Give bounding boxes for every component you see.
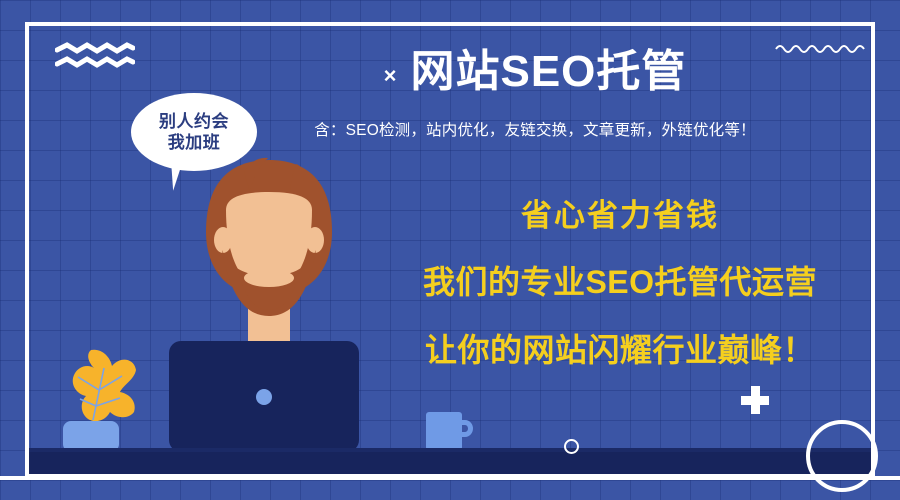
bearded-man-icon <box>206 158 332 316</box>
desk-front <box>27 452 873 476</box>
slogan-line-1: 省心省力省钱 <box>370 190 870 235</box>
page-subtitle: 含：SEO检测，站内优化，友链交换，文章更新，外链优化等！ <box>300 118 770 140</box>
slogan-line-3: 让你的网站闪耀行业巅峰！ <box>370 325 870 371</box>
speech-bubble: 别人约会 我加班 <box>131 93 257 171</box>
close-x-icon: × <box>384 65 397 87</box>
laptop-logo-icon <box>256 389 272 405</box>
wave-lines-icon <box>55 42 135 70</box>
seo-hosting-banner: 别人约会 我加班 × 网站SEO托管 含：SEO检测，站内优化，友链交换，文章更… <box>0 0 900 500</box>
squiggle-line-icon <box>775 40 867 56</box>
slogan-line-2: 我们的专业SEO托管代运营 <box>370 257 870 303</box>
desk-edge-line <box>0 476 900 480</box>
slogan-block: 省心省力省钱 我们的专业SEO托管代运营 让你的网站闪耀行业巅峰！ <box>370 190 870 371</box>
plus-icon <box>741 386 769 414</box>
coffee-mug-handle-icon <box>457 420 473 437</box>
speech-bubble-line-1: 别人约会 <box>159 111 229 132</box>
page-title: 网站SEO托管 <box>410 48 686 96</box>
potted-plant-icon <box>73 350 136 422</box>
title-row: × 网站SEO托管 <box>300 48 770 96</box>
circle-outline-icon <box>564 439 579 454</box>
speech-bubble-line-2: 我加班 <box>168 132 221 153</box>
